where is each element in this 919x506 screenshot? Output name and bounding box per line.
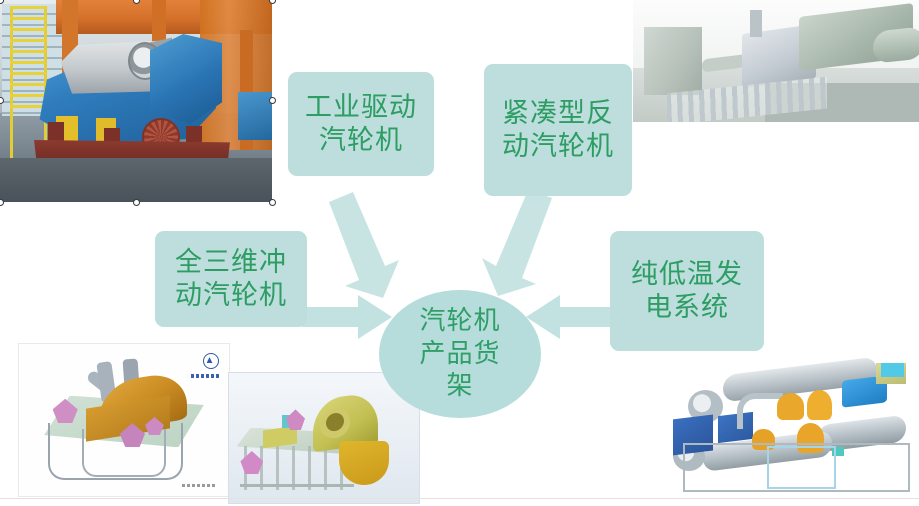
selection-handle-middle-right[interactable]	[269, 97, 276, 104]
node-compact-reaction-turbine[interactable]: 紧凑型反 动汽轮机	[484, 64, 632, 196]
center-label: 汽轮机 产品货 架	[419, 305, 500, 403]
selection-handle-bottom-center[interactable]	[133, 199, 140, 206]
company-logo-icon	[203, 353, 219, 369]
cad-yellow-rotor-block	[339, 441, 388, 485]
selection-handle-bottom-right[interactable]	[269, 199, 276, 206]
arrow-right-icon	[302, 295, 392, 339]
cad-skid-cyan-cap	[881, 363, 903, 377]
selection-handle-bottom-left[interactable]	[0, 199, 4, 206]
cad-skid-base-frame	[683, 443, 910, 492]
image-cad-gold-turbine[interactable]	[18, 343, 230, 497]
photo-background-unit	[238, 92, 272, 140]
cad-gold-caption-text	[182, 484, 216, 487]
slide-bottom-edge	[0, 498, 919, 499]
cad-skid-valve-2	[807, 390, 832, 420]
photo-floor	[0, 158, 272, 202]
render-exciter	[873, 27, 919, 64]
cad-yellow-rail	[240, 484, 354, 487]
node-compact-reaction-label: 紧凑型反 动汽轮机	[502, 97, 614, 163]
node-industrial-drive-label: 工业驱动 汽轮机	[305, 91, 417, 157]
node-3d-impulse-label: 全三维冲 动汽轮机	[175, 246, 287, 312]
image-turbine-generator-render[interactable]	[633, 0, 919, 122]
selection-handle-top-right[interactable]	[269, 0, 276, 4]
cad-skid-valve-1	[777, 393, 804, 420]
image-factory-turbine-photo[interactable]	[0, 0, 272, 202]
node-center-product-shelf[interactable]: 汽轮机 产品货 架	[379, 290, 541, 418]
slide-canvas: 工业驱动 汽轮机 紧凑型反 动汽轮机 全三维冲 动汽轮机 纯低温发 电系统 汽轮…	[0, 0, 919, 506]
image-cad-yellow-turbine[interactable]	[228, 372, 420, 504]
company-logo-text	[191, 374, 221, 378]
render-control-cabinet	[644, 27, 701, 95]
arrow-down-left-icon	[470, 190, 554, 300]
arrow-left-icon	[524, 295, 616, 339]
node-low-temp-power-system[interactable]: 纯低温发 电系统	[610, 231, 764, 351]
node-3d-impulse-turbine[interactable]: 全三维冲 动汽轮机	[155, 231, 307, 327]
node-industrial-drive-turbine[interactable]: 工业驱动 汽轮机	[288, 72, 434, 176]
node-low-temp-power-label: 纯低温发 电系统	[631, 258, 743, 324]
cad-gold-drain-loop-2	[82, 429, 166, 477]
photo-ladder-rungs	[10, 6, 46, 116]
arrow-down-right-icon	[327, 192, 401, 300]
image-cad-skid-system[interactable]	[668, 348, 916, 498]
render-vent-stack	[750, 10, 761, 37]
